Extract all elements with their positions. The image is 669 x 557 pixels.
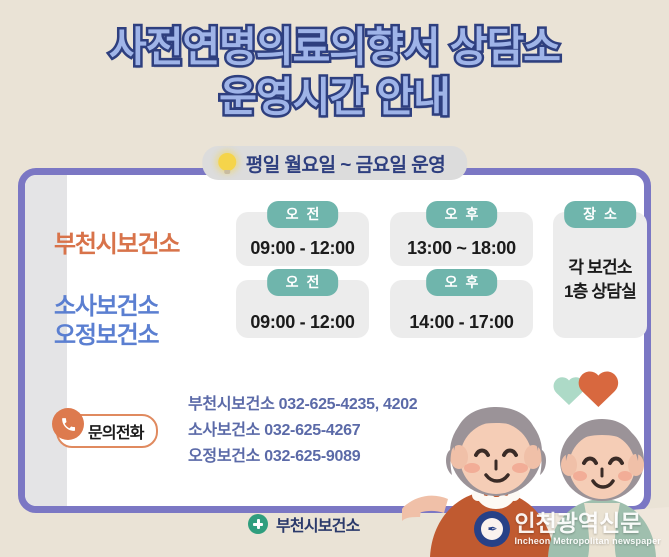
- slot-row1-afternoon: 오 후 13:00 ~ 18:00: [390, 212, 533, 266]
- contact-section: 문의전화 부천시보건소 032-625-4235, 4202 소사보건소 032…: [56, 392, 486, 482]
- hours-table: 부천시보건소 소사보건소 오정보건소 오 전 09:00 - 12:00 오 후…: [40, 200, 640, 368]
- lightbulb-icon: [216, 152, 238, 174]
- table-row-name-sosa-ojeong: 소사보건소 오정보건소: [54, 292, 224, 350]
- slot-row2-morning: 오 전 09:00 - 12:00: [236, 280, 369, 338]
- table-row-name-bucheon: 부천시보건소: [54, 230, 224, 259]
- footer-logo-label: 부천시보건소: [276, 512, 360, 536]
- pill-row1-afternoon: 오 후: [426, 201, 498, 228]
- phone-icon: [52, 408, 84, 440]
- place-line-2: 1층 상담실: [564, 282, 636, 301]
- pill-row2-morning: 오 전: [267, 269, 339, 296]
- watermark-english: Incheon Metropolitan newspaper: [514, 537, 661, 546]
- poster-canvas: 사전연명의료의향서 상담소 운영시간 안내 평일 월요일 ~ 금요일 운영 부천…: [0, 0, 669, 557]
- page-title: 사전연명의료의향서 상담소 운영시간 안내: [0, 22, 669, 122]
- place-text: 각 보건소 1층 상담실: [553, 256, 647, 304]
- contact-line-bucheon: 부천시보건소 032-625-4235, 4202: [188, 392, 417, 418]
- watermark: ✒ 인천광역신문 Incheon Metropolitan newspaper: [474, 511, 661, 547]
- contact-line-ojeong: 오정보건소 032-625-9089: [188, 444, 417, 470]
- pill-row1-morning: 오 전: [267, 201, 339, 228]
- time-row2-afternoon: 14:00 - 17:00: [390, 312, 533, 333]
- pen-nib-icon: ✒: [474, 511, 510, 547]
- slot-row2-afternoon: 오 후 14:00 - 17:00: [390, 280, 533, 338]
- time-row2-morning: 09:00 - 12:00: [236, 312, 369, 333]
- time-row1-morning: 09:00 - 12:00: [236, 238, 369, 259]
- title-line-1: 사전연명의료의향서 상담소: [0, 22, 669, 72]
- place-line-1: 각 보건소: [568, 258, 631, 277]
- slot-row1-morning: 오 전 09:00 - 12:00: [236, 212, 369, 266]
- name-line-sosa: 소사보건소: [54, 292, 224, 321]
- slot-place: 장 소 각 보건소 1층 상담실: [553, 212, 647, 338]
- name-line-ojeong: 오정보건소: [54, 321, 224, 350]
- contact-badge-label: 문의전화: [88, 419, 144, 443]
- schedule-banner: 평일 월요일 ~ 금요일 운영: [202, 146, 468, 180]
- watermark-korean: 인천광역신문: [514, 510, 641, 536]
- schedule-banner-label: 평일 월요일 ~ 금요일 운영: [246, 150, 446, 177]
- contact-line-sosa: 소사보건소 032-625-4267: [188, 418, 417, 444]
- time-row1-afternoon: 13:00 ~ 18:00: [390, 238, 533, 259]
- medical-cross-icon: [248, 514, 268, 534]
- contact-lines: 부천시보건소 032-625-4235, 4202 소사보건소 032-625-…: [188, 392, 417, 470]
- pill-row2-afternoon: 오 후: [426, 269, 498, 296]
- pill-place: 장 소: [564, 201, 636, 228]
- footer-logo: 부천시보건소: [248, 512, 360, 536]
- title-line-2: 운영시간 안내: [0, 72, 669, 122]
